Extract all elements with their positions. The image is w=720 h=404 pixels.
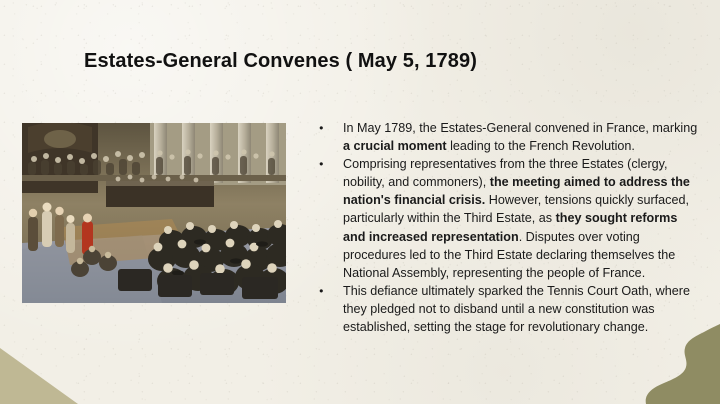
body-text: In May 1789, the Estates-General convene… [343, 121, 697, 135]
list-item: Comprising representatives from the thre… [318, 155, 702, 282]
bullet-list: In May 1789, the Estates-General convene… [318, 119, 702, 336]
body-text: This defiance ultimately sparked the Ten… [343, 284, 690, 334]
list-item: This defiance ultimately sparked the Ten… [318, 282, 702, 336]
painting-artwork [22, 123, 286, 303]
list-item: In May 1789, the Estates-General convene… [318, 119, 702, 155]
estates-general-painting-image [22, 123, 286, 303]
body-text: leading to the French Revolution. [447, 139, 635, 153]
bottom-left-khaki-wedge-decoration [0, 348, 78, 404]
slide-canvas: Estates-General Convenes ( May 5, 1789) [0, 0, 720, 404]
page-title: Estates-General Convenes ( May 5, 1789) [84, 50, 477, 73]
emphasis-text: a crucial moment [343, 139, 447, 153]
